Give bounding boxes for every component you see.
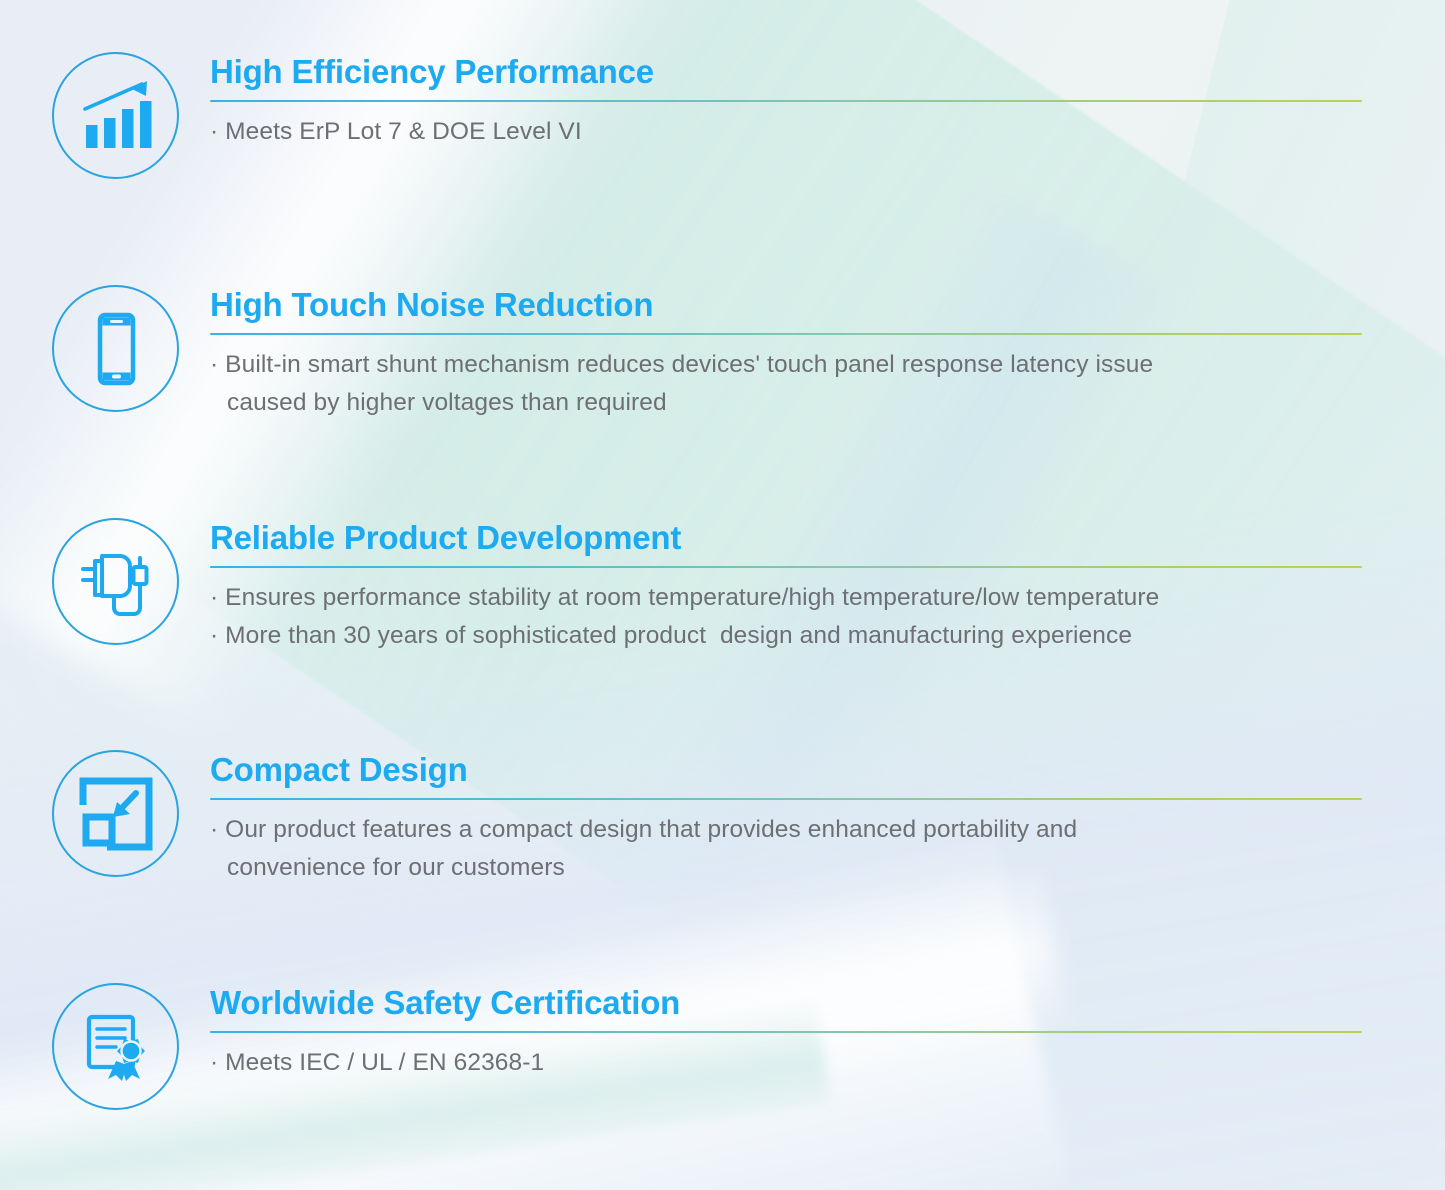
feature-body: Reliable Product Development · Ensures p… [210, 516, 1362, 654]
smartphone-icon [52, 285, 179, 412]
feature-description: · Ensures performance stability at room … [210, 579, 1362, 653]
feature-bullet-line: · Ensures performance stability at room … [210, 579, 1362, 616]
feature-list: High Efficiency Performance · Meets ErP … [0, 0, 1445, 1190]
feature-divider-rule [210, 798, 1362, 801]
power-adapter-icon [52, 518, 179, 645]
feature-body: High Efficiency Performance · Meets ErP … [210, 50, 1362, 151]
feature-divider-rule [210, 333, 1362, 336]
feature-bullet-line: · Meets ErP Lot 7 & DOE Level VI [210, 113, 1362, 150]
feature-divider-rule [210, 566, 1362, 569]
feature-item-worldwide-safety-certification: Worldwide Safety Certification · Meets I… [52, 981, 1362, 1110]
feature-bullet-line: · More than 30 years of sophisticated pr… [210, 617, 1362, 654]
feature-description: · Meets IEC / UL / EN 62368-1 [210, 1044, 1362, 1081]
feature-bullet-line: · Our product features a compact design … [210, 811, 1362, 848]
feature-bullet-line: · Meets IEC / UL / EN 62368-1 [210, 1044, 1362, 1081]
feature-item-high-touch-noise-reduction: High Touch Noise Reduction · Built-in sm… [52, 283, 1362, 421]
feature-body: Worldwide Safety Certification · Meets I… [210, 981, 1362, 1082]
feature-description: · Our product features a compact design … [210, 811, 1362, 885]
feature-divider-rule [210, 100, 1362, 103]
feature-title: High Efficiency Performance [210, 54, 1362, 91]
compact-resize-icon [52, 750, 179, 877]
feature-body: Compact Design · Our product features a … [210, 748, 1362, 886]
feature-bullet-line-continued: convenience for our customers [210, 849, 1362, 886]
feature-item-high-efficiency-performance: High Efficiency Performance · Meets ErP … [52, 50, 1362, 179]
feature-description: · Meets ErP Lot 7 & DOE Level VI [210, 113, 1362, 150]
feature-item-reliable-product-development: Reliable Product Development · Ensures p… [52, 516, 1362, 654]
feature-body: High Touch Noise Reduction · Built-in sm… [210, 283, 1362, 421]
feature-item-compact-design: Compact Design · Our product features a … [52, 748, 1362, 886]
feature-description: · Built-in smart shunt mechanism reduces… [210, 346, 1362, 420]
feature-bullet-line-continued: caused by higher voltages than required [210, 384, 1362, 421]
feature-title: Compact Design [210, 752, 1362, 789]
feature-title: Worldwide Safety Certification [210, 985, 1362, 1022]
feature-divider-rule [210, 1031, 1362, 1034]
bar-chart-growth-icon [52, 52, 179, 179]
certificate-award-icon [52, 983, 179, 1110]
feature-title: Reliable Product Development [210, 520, 1362, 557]
feature-title: High Touch Noise Reduction [210, 287, 1362, 324]
feature-bullet-line: · Built-in smart shunt mechanism reduces… [210, 346, 1362, 383]
